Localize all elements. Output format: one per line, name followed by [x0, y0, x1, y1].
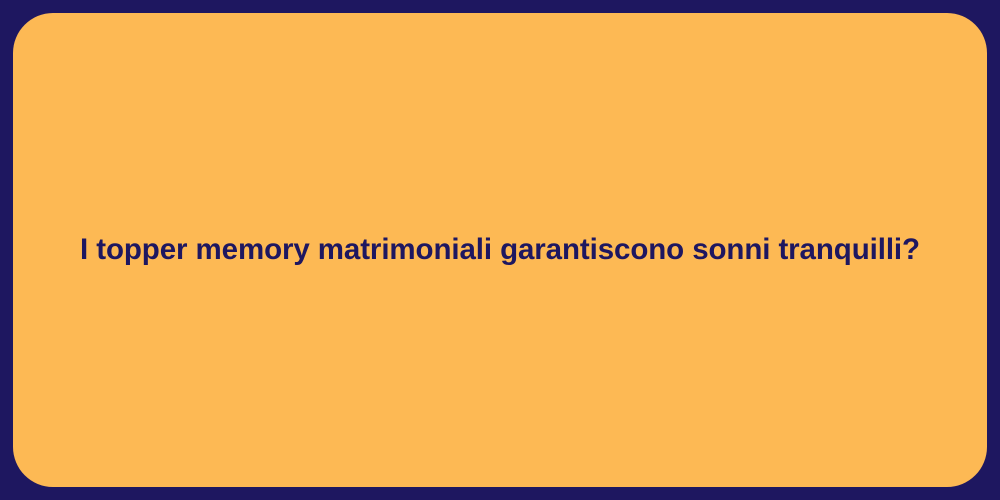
page-title: I topper memory matrimoniali garantiscon…	[80, 232, 920, 269]
banner-card: I topper memory matrimoniali garantiscon…	[13, 13, 987, 487]
banner-frame: I topper memory matrimoniali garantiscon…	[0, 0, 1000, 500]
